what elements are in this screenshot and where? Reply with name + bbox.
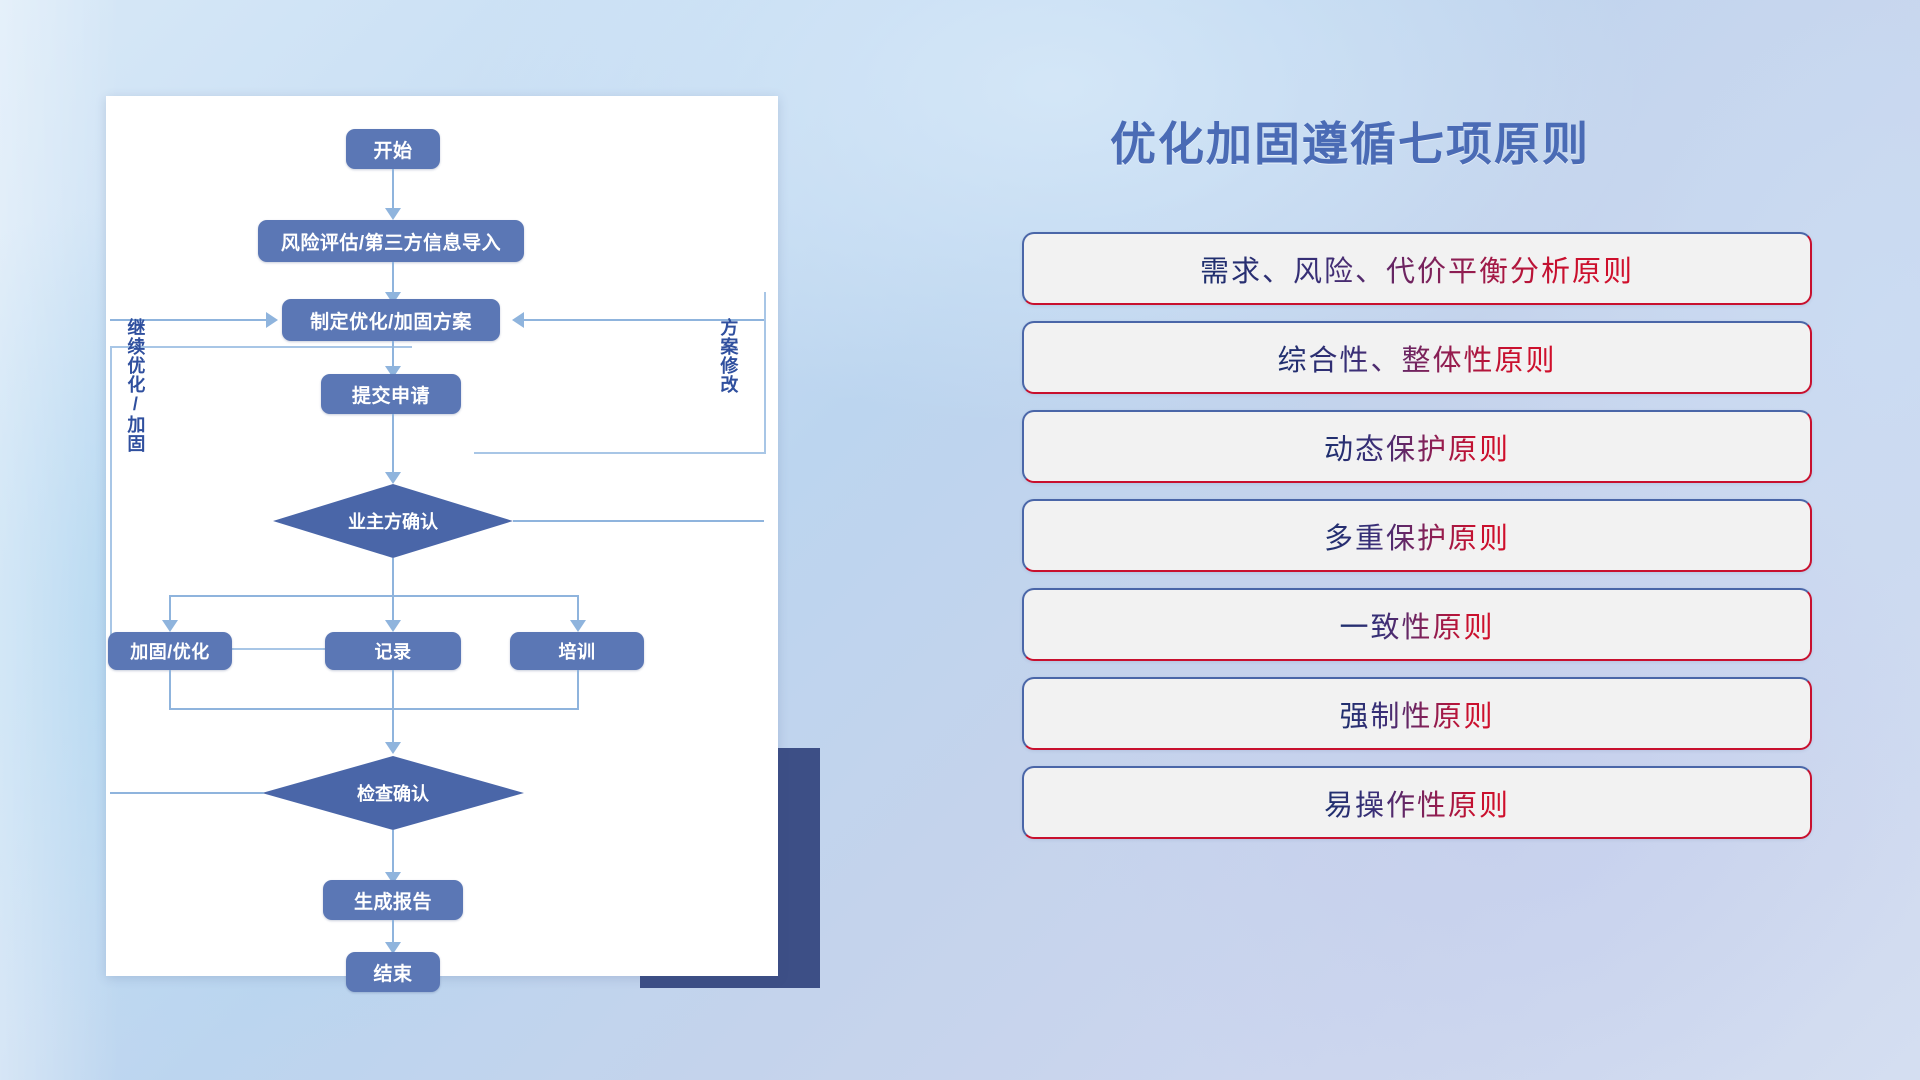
loop-label-right: 方案修改: [719, 318, 737, 394]
principle-label: 综合性、整体性原则: [1277, 337, 1556, 379]
flow-decision-check-confirm-shape[interactable]: 检查确认: [262, 756, 524, 830]
connector-merge-mid: [392, 670, 394, 710]
principles-list: 需求、风险、代价平衡分析原则 综合性、整体性原则 动态保护原则 多重保护原则 一…: [1022, 232, 1812, 855]
flowchart-card: 开始 风险评估/第三方信息导入 制定优化/加固方案: [106, 96, 778, 976]
flow-node-label: 生成报告: [354, 887, 432, 914]
arrow-down-icon: [385, 472, 401, 484]
principle-card-1[interactable]: 需求、风险、代价平衡分析原则: [1022, 232, 1812, 305]
connector-merge-right: [577, 670, 579, 710]
principle-card-3[interactable]: 动态保护原则: [1022, 410, 1812, 483]
flow-node-label: 风险评估/第三方信息导入: [281, 228, 501, 255]
connector-owner-down: [392, 558, 394, 596]
flow-node-record[interactable]: 记录: [325, 632, 461, 670]
principle-label: 易操作性原则: [1324, 782, 1510, 824]
connector-start-to-risk: [392, 169, 394, 213]
connector-submit-to-owner: [392, 414, 394, 478]
principle-label: 一致性原则: [1339, 604, 1494, 646]
principle-card-4[interactable]: 多重保护原则: [1022, 499, 1812, 572]
page-title: 优化加固遵循七项原则: [1000, 108, 1700, 174]
flow-node-harden-optimize[interactable]: 加固/优化: [108, 632, 232, 670]
flow-node-start[interactable]: 开始: [346, 129, 440, 169]
flow-node-make-plan[interactable]: 制定优化/加固方案: [282, 299, 500, 341]
slide-canvas: 开始 风险评估/第三方信息导入 制定优化/加固方案: [0, 0, 1920, 1080]
arrow-down-icon: [385, 620, 401, 632]
flow-node-submit-application[interactable]: 提交申请: [321, 374, 461, 414]
principle-card-7[interactable]: 易操作性原则: [1022, 766, 1812, 839]
connector-check-to-report: [392, 830, 394, 878]
principle-card-2[interactable]: 综合性、整体性原则: [1022, 321, 1812, 394]
arrow-down-icon: [162, 620, 178, 632]
flow-node-label: 开始: [373, 136, 412, 163]
principle-card-5[interactable]: 一致性原则: [1022, 588, 1812, 661]
arrow-right-icon: [266, 312, 278, 328]
flow-node-label: 加固/优化: [130, 638, 210, 664]
flow-node-label: 记录: [375, 638, 412, 664]
flow-node-label: 提交申请: [352, 381, 430, 408]
flow-node-label: 业主方确认: [348, 508, 438, 534]
flow-node-label: 检查确认: [357, 780, 429, 806]
connector-check-to-left-loop: [110, 792, 264, 794]
principle-label: 动态保护原则: [1324, 426, 1510, 468]
principle-label: 多重保护原则: [1324, 515, 1510, 557]
flow-node-label: 结束: [373, 959, 412, 986]
flow-node-end[interactable]: 结束: [346, 952, 440, 992]
arrow-down-icon: [385, 742, 401, 754]
flow-node-label: 制定优化/加固方案: [310, 307, 472, 334]
connector-merge-bus: [169, 708, 579, 710]
principle-label: 强制性原则: [1339, 693, 1494, 735]
arrow-down-icon: [570, 620, 586, 632]
flow-node-risk-assessment[interactable]: 风险评估/第三方信息导入: [258, 220, 524, 262]
flow-node-generate-report[interactable]: 生成报告: [323, 880, 463, 920]
loop-label-left: 继续优化/加固: [126, 318, 144, 453]
arrow-down-icon: [385, 208, 401, 220]
flowchart-diagram: 开始 风险评估/第三方信息导入 制定优化/加固方案: [106, 96, 778, 976]
principle-card-6[interactable]: 强制性原则: [1022, 677, 1812, 750]
flow-node-training[interactable]: 培训: [510, 632, 644, 670]
connector-merge-left: [169, 670, 171, 710]
flow-node-label: 培训: [559, 638, 596, 664]
arrow-left-icon: [512, 312, 524, 328]
connector-split-bus: [169, 595, 579, 597]
principle-label: 需求、风险、代价平衡分析原则: [1200, 248, 1634, 290]
connector-owner-to-right-loop: [513, 520, 764, 522]
